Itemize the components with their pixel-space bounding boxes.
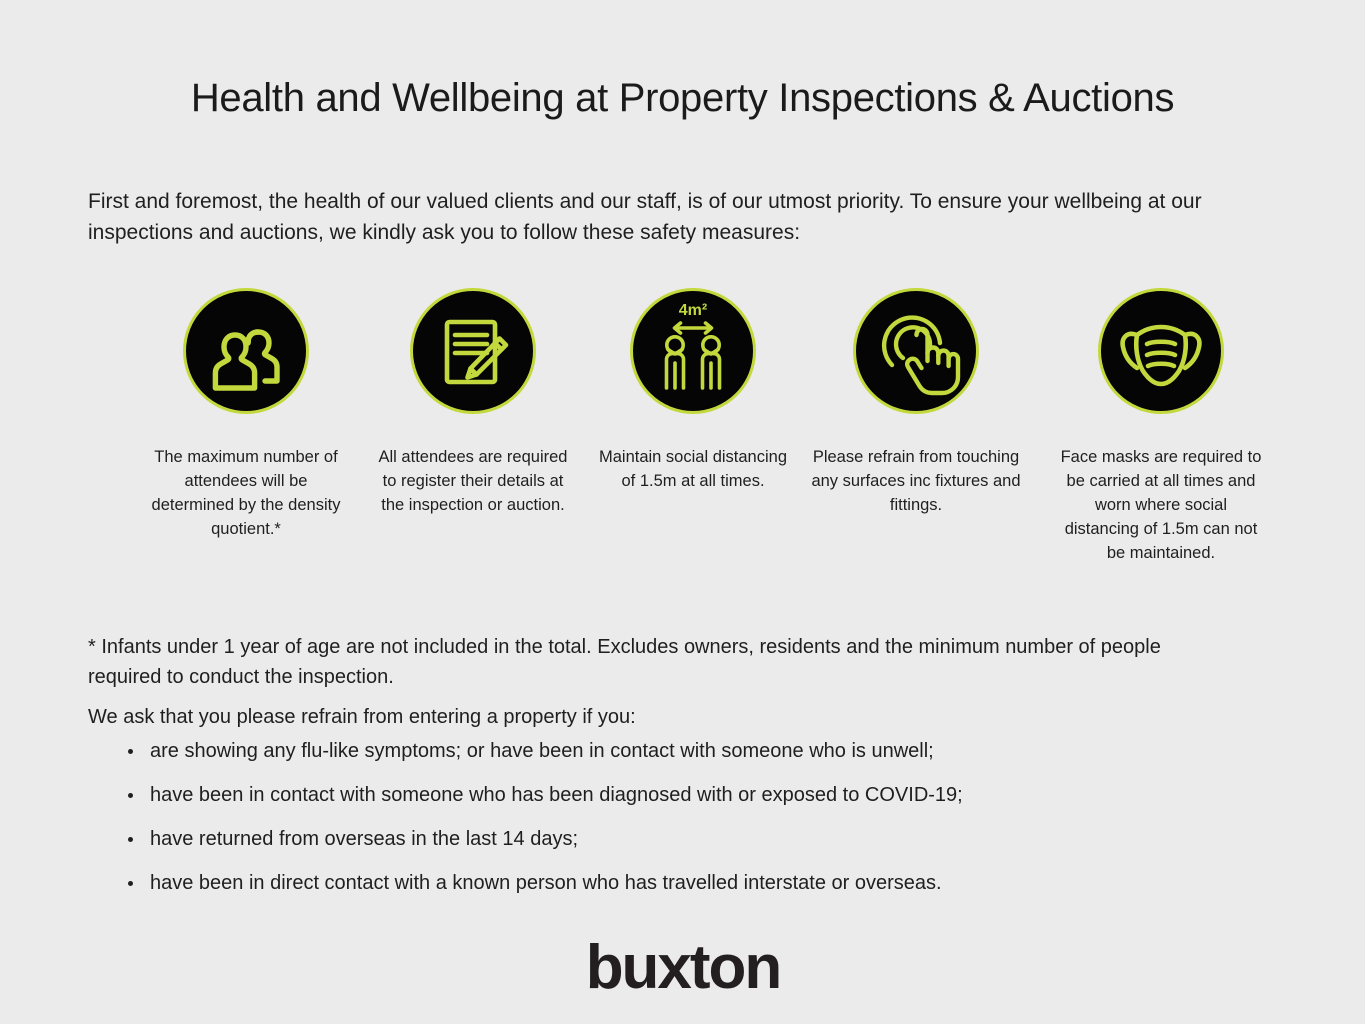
list-item-label: have been in contact with someone who ha… — [150, 784, 963, 806]
measure-caption: The maximum number of attendees will be … — [146, 445, 346, 541]
buxton-logo-text: buxton — [585, 938, 780, 1000]
measure-card-register: All attendees are required to register t… — [373, 288, 573, 517]
measure-caption: Maintain social distancing of 1.5m at al… — [593, 445, 793, 493]
bullet-dot-icon — [128, 837, 133, 842]
face-mask-icon-badge — [1098, 288, 1224, 414]
hand-tap-icon-badge — [853, 288, 979, 414]
refrain-intro-text: We ask that you please refrain from ente… — [88, 702, 1238, 732]
social-distancing-icon: 4m² — [633, 291, 753, 411]
measure-card-distancing: 4m² — [593, 288, 793, 493]
two-people-icon-badge — [183, 288, 309, 414]
distance-label: 4m² — [679, 302, 707, 319]
measure-caption: Please refrain from touching any surface… — [811, 445, 1021, 517]
brand-logo: buxton — [0, 938, 1365, 1005]
list-item-label: have been in direct contact with a known… — [150, 872, 942, 894]
page-title: Health and Wellbeing at Property Inspect… — [0, 76, 1365, 121]
document-pencil-icon — [413, 291, 533, 411]
measure-caption: All attendees are required to register t… — [373, 445, 573, 517]
bullet-dot-icon — [128, 881, 133, 886]
list-item-label: have returned from overseas in the last … — [150, 828, 578, 850]
face-mask-icon — [1101, 291, 1221, 411]
safety-measures-row: The maximum number of attendees will be … — [88, 288, 1278, 588]
measure-card-no-touch: Please refrain from touching any surface… — [811, 288, 1021, 517]
measure-card-attendees: The maximum number of attendees will be … — [146, 288, 346, 541]
buxton-logo-icon: buxton — [577, 938, 789, 1000]
document-pencil-icon-badge — [410, 288, 536, 414]
intro-paragraph: First and foremost, the health of our va… — [88, 186, 1248, 248]
social-distancing-icon-badge: 4m² — [630, 288, 756, 414]
footnote-text: * Infants under 1 year of age are not in… — [88, 632, 1238, 692]
list-item: have returned from overseas in the last … — [122, 826, 1302, 853]
list-item: have been in contact with someone who ha… — [122, 782, 1302, 809]
two-people-icon — [186, 291, 306, 411]
poster-page: Health and Wellbeing at Property Inspect… — [0, 0, 1365, 1024]
measure-card-face-mask: Face masks are required to be carried at… — [1056, 288, 1266, 565]
list-item: have been in direct contact with a known… — [122, 870, 1302, 897]
list-item-label: are showing any flu-like symptoms; or ha… — [150, 740, 934, 762]
measure-caption: Face masks are required to be carried at… — [1056, 445, 1266, 565]
refrain-condition-list: are showing any flu-like symptoms; or ha… — [122, 738, 1302, 914]
hand-tap-icon — [856, 291, 976, 411]
bullet-dot-icon — [128, 749, 133, 754]
bullet-dot-icon — [128, 793, 133, 798]
list-item: are showing any flu-like symptoms; or ha… — [122, 738, 1302, 765]
